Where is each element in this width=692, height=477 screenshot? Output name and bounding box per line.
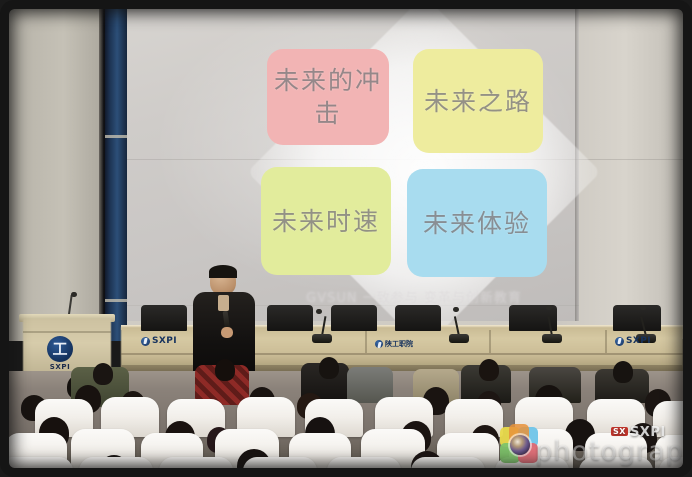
emblem-glyph: 工: [52, 342, 67, 357]
slide-tile-label: 未来的冲击: [267, 64, 389, 130]
head-table-joint: [365, 330, 367, 353]
slide-tile-future-speed: 未来时速: [261, 167, 391, 275]
audience-head: [319, 357, 339, 379]
microphone-head: [316, 309, 322, 314]
slide-tile-future-experience: 未来体验: [407, 169, 547, 277]
pillar-notch: [105, 135, 127, 138]
presenter-hand: [221, 327, 233, 338]
audience-chair: [9, 457, 73, 468]
slide-tile-future-shock: 未来的冲击: [267, 49, 389, 145]
presenter-shirt: [218, 295, 229, 311]
head-table-chair: [331, 305, 377, 331]
audience-chair: [327, 457, 401, 468]
table-sign-label: 陕工职院: [385, 339, 413, 349]
audience-head: [613, 361, 633, 383]
audience-chair: [159, 457, 233, 468]
sxpi-logo-icon: [141, 337, 150, 346]
microphone-base: [449, 334, 469, 343]
table-sign-label: SXPI: [152, 336, 177, 346]
audience-chair: [411, 457, 485, 468]
table-sign-chinese-center: 陕工职院: [375, 339, 413, 349]
slide-tile-future-road: 未来之路: [413, 49, 543, 153]
table-microphone: [312, 309, 332, 343]
sxpi-logo-icon: [615, 337, 624, 346]
slide-subtitle: GVSUN 一致参与 变革与创新教育: [259, 287, 569, 306]
table-microphone: [449, 307, 469, 343]
audience-chair: [243, 457, 317, 468]
slide-tile-label: 未来之路: [418, 85, 538, 118]
podium-microphone-head: [71, 292, 77, 297]
camera-lens-icon: [510, 435, 530, 455]
microphone-head: [453, 307, 459, 312]
watermark-word: photography: [535, 436, 692, 467]
watermark-brand-tag: SX: [611, 427, 628, 436]
auditorium-scene: 未来的冲击 未来之路 未来时速 未来体验 GVSUN 一致参与 变革与创新教育: [9, 9, 683, 468]
presenter-hair: [209, 265, 237, 278]
audience-head: [215, 359, 235, 381]
microphone-base: [312, 334, 332, 343]
slide-tile-label: 未来体验: [417, 207, 537, 240]
microphone-head: [640, 305, 646, 310]
pillar-notch: [105, 299, 127, 302]
head-table-joint: [605, 330, 607, 353]
head-table-chair: [267, 305, 313, 331]
head-table-joint: [489, 330, 491, 353]
microphone-base: [542, 334, 562, 343]
podium-sxpi-emblem: 工: [47, 336, 73, 362]
microphone-head: [546, 305, 552, 310]
photograph-canvas: 未来的冲击 未来之路 未来时速 未来体验 GVSUN 一致参与 变革与创新教育: [0, 0, 692, 477]
left-wall-panel: [9, 9, 100, 341]
table-sign-sxpi-right: SXPI: [615, 336, 651, 346]
photo-watermark: SXSXPI photography: [497, 421, 687, 473]
blue-pillar: [105, 9, 127, 341]
sxpi-logo-icon: [375, 340, 383, 348]
head-table-chair: [395, 305, 441, 331]
audience-chair: [79, 457, 153, 468]
camera-logo-icon: [500, 427, 538, 463]
audience-head: [479, 359, 499, 381]
slide-tile-label: 未来时速: [266, 205, 386, 238]
head-table-chair: [141, 305, 187, 331]
podium-trim-line: [23, 331, 111, 333]
table-microphone: [542, 305, 562, 343]
table-sign-sxpi-left: SXPI: [141, 336, 177, 346]
table-sign-label: SXPI: [626, 336, 651, 346]
